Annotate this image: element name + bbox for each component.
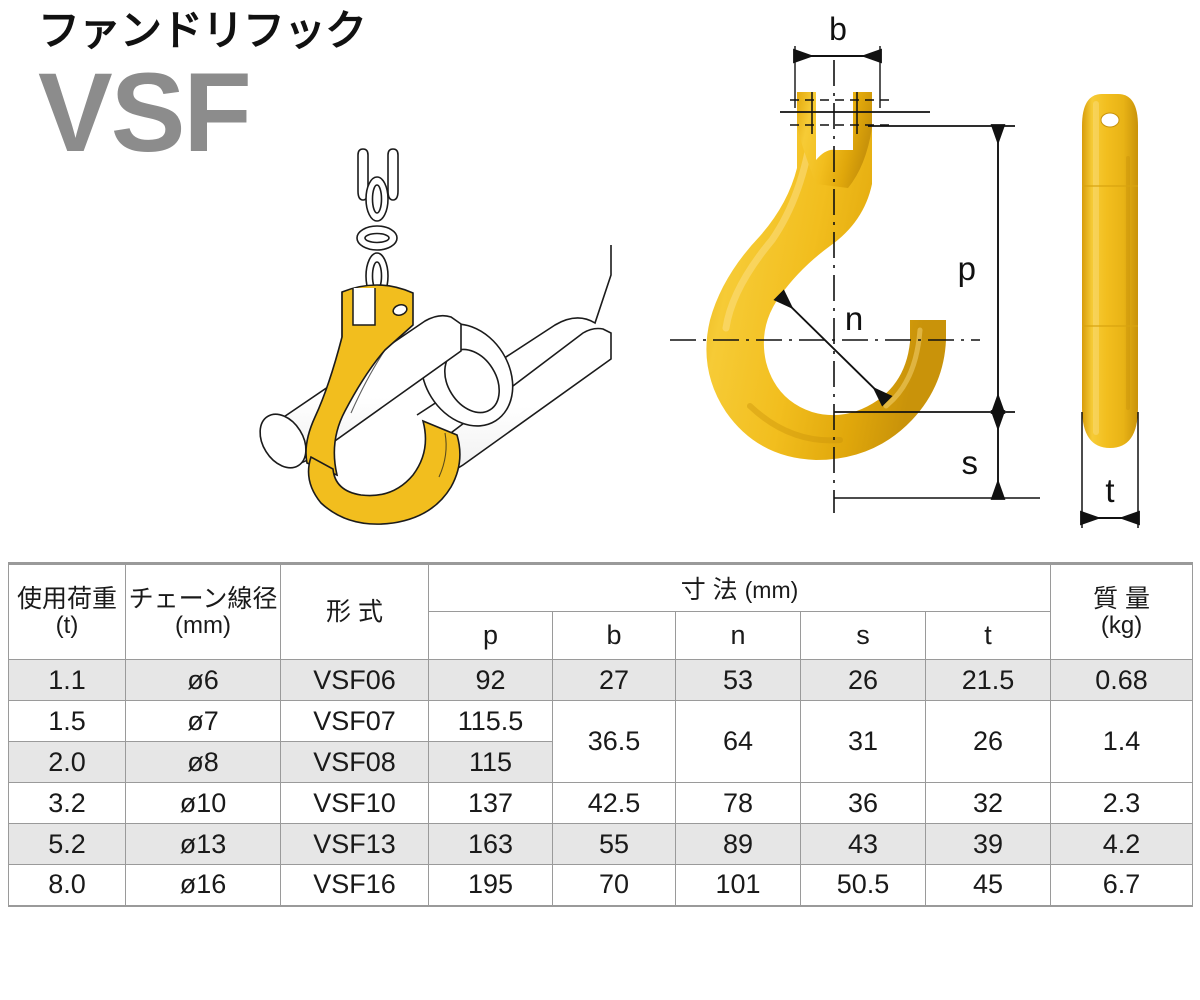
cell-model-type: VSF16 [281, 865, 429, 906]
header-dim-t: t [926, 612, 1051, 660]
cell-dim-b: 55 [553, 824, 676, 865]
dimension-label-b: b [829, 11, 847, 47]
cell-dim-b: 70 [553, 865, 676, 906]
header-chain-diameter-label: チェーン線径 [126, 585, 280, 613]
cell-chain-diameter: ø13 [126, 824, 281, 865]
cell-dim-s: 50.5 [801, 865, 926, 906]
header-dim-s: s [801, 612, 926, 660]
header-dimensions-group: 寸 法 (mm) [429, 564, 1051, 612]
cell-model-type: VSF13 [281, 824, 429, 865]
header-dim-n: n [676, 612, 801, 660]
cell-dim-p: 137 [429, 783, 553, 824]
cell-working-load: 2.0 [9, 742, 126, 783]
cell-model-type: VSF08 [281, 742, 429, 783]
cell-dim-p: 195 [429, 865, 553, 906]
header-dim-p: p [429, 612, 553, 660]
cell-working-load: 1.5 [9, 701, 126, 742]
dimension-label-n: n [845, 300, 863, 337]
cell-dim-n: 89 [676, 824, 801, 865]
dimension-p: p [958, 126, 998, 412]
table-row: 1.1 ø6 VSF06 92 27 53 26 21.5 0.68 [9, 660, 1193, 701]
cell-mass: 4.2 [1051, 824, 1193, 865]
cell-working-load: 1.1 [9, 660, 126, 701]
hook-photo-front [706, 92, 946, 460]
cell-dim-s: 26 [801, 660, 926, 701]
cell-dim-t: 45 [926, 865, 1051, 906]
table-row: 3.2 ø10 VSF10 137 42.5 78 36 32 2.3 [9, 783, 1193, 824]
cell-mass: 2.3 [1051, 783, 1193, 824]
table-row: 5.2 ø13 VSF13 163 55 89 43 39 4.2 [9, 824, 1193, 865]
cell-dim-s: 31 [801, 701, 926, 783]
side-view-drawing: t [1040, 8, 1200, 553]
cell-chain-diameter: ø16 [126, 865, 281, 906]
header-model-type: 形 式 [281, 564, 429, 660]
cell-dim-t: 32 [926, 783, 1051, 824]
dimension-label-s: s [962, 444, 979, 481]
cell-dim-p: 115.5 [429, 701, 553, 742]
cell-chain-diameter: ø7 [126, 701, 281, 742]
header-chain-diameter-unit: (mm) [126, 613, 280, 640]
header-working-load-label: 使用荷重 [9, 585, 125, 613]
table-row: 1.5 ø7 VSF07 115.5 36.5 64 31 26 1.4 [9, 701, 1193, 742]
cell-model-type: VSF10 [281, 783, 429, 824]
cell-mass: 1.4 [1051, 701, 1193, 783]
dimension-label-t: t [1105, 472, 1114, 509]
header-dim-b: b [553, 612, 676, 660]
header-mass: 質 量 (kg) [1051, 564, 1193, 660]
cell-mass: 0.68 [1051, 660, 1193, 701]
header-mass-label: 質 量 [1051, 585, 1192, 613]
dimension-n: n [780, 296, 886, 400]
header-dimensions-group-label: 寸 法 [681, 576, 738, 604]
cell-model-type: VSF06 [281, 660, 429, 701]
cell-working-load: 3.2 [9, 783, 126, 824]
cell-mass: 6.7 [1051, 865, 1193, 906]
header-chain-diameter: チェーン線径 (mm) [126, 564, 281, 660]
cell-dim-n: 78 [676, 783, 801, 824]
usage-illustration [225, 125, 615, 525]
table-header-row-1: 使用荷重 (t) チェーン線径 (mm) 形 式 寸 法 (mm) 質 量 (k… [9, 564, 1193, 612]
cell-dim-n: 64 [676, 701, 801, 783]
cell-dim-s: 43 [801, 824, 926, 865]
header-working-load-unit: (t) [9, 613, 125, 640]
cell-dim-p: 92 [429, 660, 553, 701]
table-row: 8.0 ø16 VSF16 195 70 101 50.5 45 6.7 [9, 865, 1193, 906]
cell-dim-t: 39 [926, 824, 1051, 865]
header-working-load: 使用荷重 (t) [9, 564, 126, 660]
cell-working-load: 8.0 [9, 865, 126, 906]
cell-chain-diameter: ø6 [126, 660, 281, 701]
cell-working-load: 5.2 [9, 824, 126, 865]
dimension-label-p: p [958, 250, 976, 287]
cell-dim-s: 36 [801, 783, 926, 824]
header-mass-unit: (kg) [1051, 613, 1192, 640]
figure-area: b n p [0, 0, 1200, 552]
cell-dim-t: 21.5 [926, 660, 1051, 701]
product-spec-sheet: ファンドリフック VSF [0, 0, 1200, 1000]
specification-table: 使用荷重 (t) チェーン線径 (mm) 形 式 寸 法 (mm) 質 量 (k… [8, 562, 1193, 907]
cell-dim-b: 42.5 [553, 783, 676, 824]
cell-dim-n: 101 [676, 865, 801, 906]
cell-dim-n: 53 [676, 660, 801, 701]
dimension-s: s [962, 412, 999, 498]
cell-dim-b: 36.5 [553, 701, 676, 783]
cell-chain-diameter: ø8 [126, 742, 281, 783]
cell-model-type: VSF07 [281, 701, 429, 742]
front-view-drawing: b n p [640, 8, 1040, 553]
hook-photo-side [1082, 94, 1138, 448]
cell-dim-b: 27 [553, 660, 676, 701]
header-dimensions-group-unit: (mm) [745, 577, 799, 603]
cell-dim-p: 115 [429, 742, 553, 783]
cell-dim-t: 26 [926, 701, 1051, 783]
cell-dim-p: 163 [429, 824, 553, 865]
cell-chain-diameter: ø10 [126, 783, 281, 824]
